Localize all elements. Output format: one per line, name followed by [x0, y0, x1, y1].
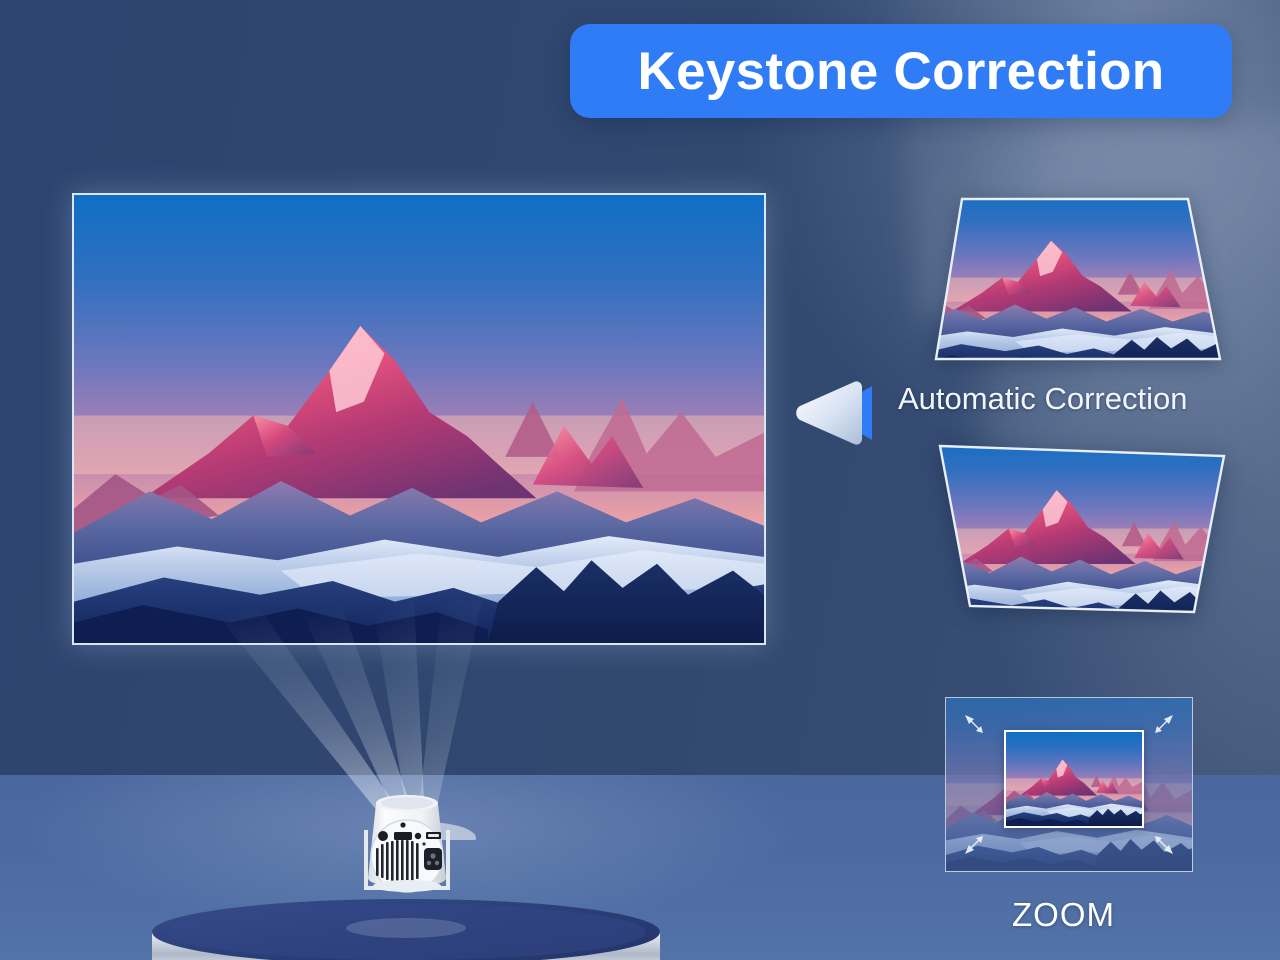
keystone-distorted-thumb-bottom: [936, 440, 1228, 618]
audio-jack-port: [378, 831, 388, 841]
main-screen-image: [74, 195, 764, 643]
keystone-distorted-thumb-top: [930, 193, 1226, 365]
zoom-corner-arrow-top-left: [962, 712, 988, 738]
automatic-correction-label: Automatic Correction: [898, 382, 1258, 416]
zoom-corner-arrow-bottom-right: [1150, 831, 1176, 857]
left-pointing-arrow-icon: [790, 376, 878, 450]
power-socket: [424, 848, 442, 870]
scene-root: Keystone Correction: [0, 0, 1280, 960]
vent-grille: [376, 840, 419, 882]
zoom-corner-arrow-top-right: [1150, 712, 1176, 738]
arrow-triangle: [796, 381, 862, 444]
av-jack-port: [415, 833, 421, 839]
projector-device: [352, 786, 462, 898]
zoom-inner-image: [1004, 730, 1144, 828]
title-banner: Keystone Correction: [570, 24, 1232, 118]
zoom-demo-panel: [945, 697, 1193, 872]
zoom-label: ZOOM: [1012, 896, 1115, 934]
page-title: Keystone Correction: [638, 45, 1165, 98]
hdmi-port: [394, 832, 412, 840]
zoom-corner-arrow-bottom-left: [962, 831, 988, 857]
main-projected-screen: [72, 193, 766, 645]
round-pedestal-table: [150, 898, 662, 960]
